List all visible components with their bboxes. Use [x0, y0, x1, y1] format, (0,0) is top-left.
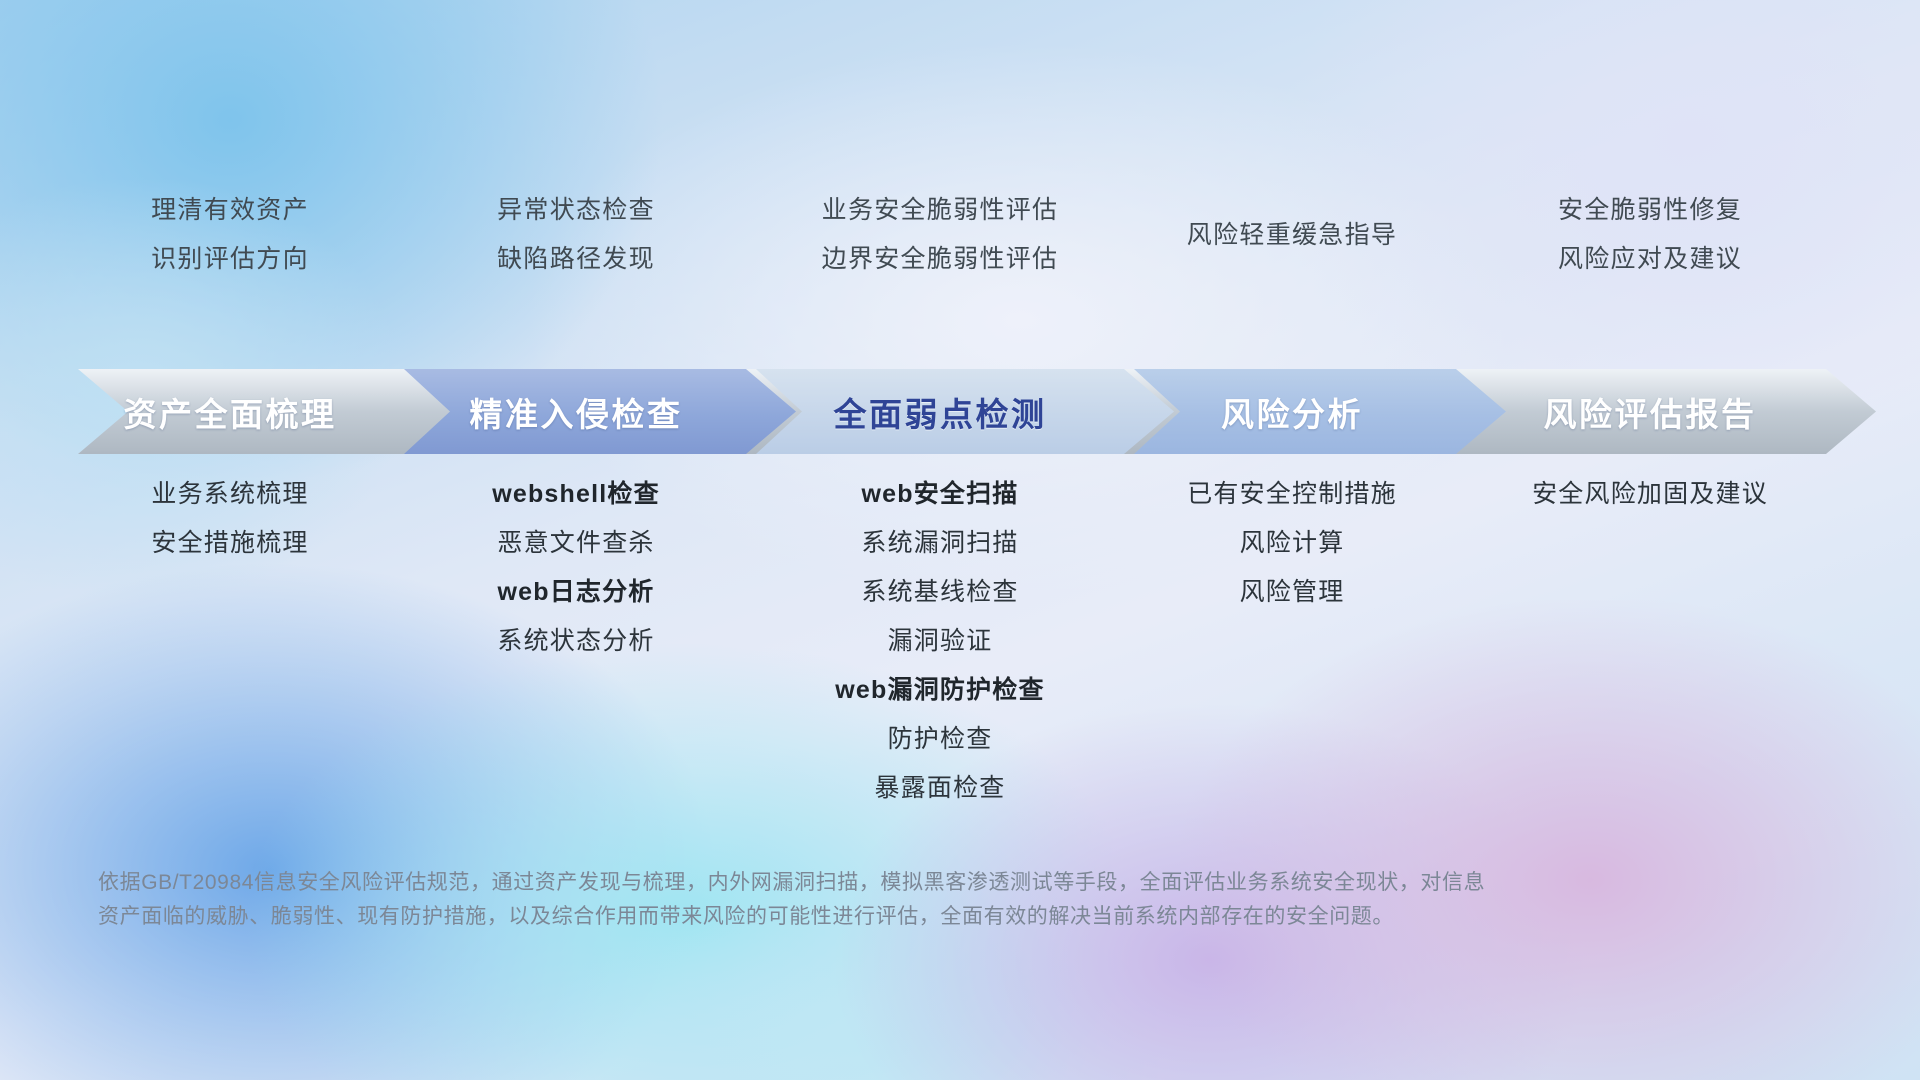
process-diagram: 理清有效资产识别评估方向异常状态检查缺陷路径发现业务安全脆弱性评估边界安全脆弱性… — [0, 0, 1920, 1080]
footer-line-1: 依据GB/T20984信息安全风险评估规范，通过资产发现与梳理，内外网漏洞扫描，… — [98, 866, 1658, 900]
detail-list-item: 业务系统梳理 — [50, 470, 410, 519]
stage-chevron-assessment-report[interactable]: 风险评估报告 — [1466, 369, 1872, 454]
detail-list-item: 暴露面检查 — [730, 764, 1150, 813]
top-notes-risk-analysis: 风险轻重缓急指导 — [1102, 211, 1482, 260]
detail-list-item: web漏洞防护检查 — [730, 666, 1150, 715]
stage-label-risk-analysis: 风险分析 — [1092, 388, 1492, 436]
detail-list-item: 安全措施梳理 — [50, 519, 410, 568]
stage-label-asset-sorting: 资产全面梳理 — [30, 388, 430, 436]
stage-label-assessment-report: 风险评估报告 — [1450, 388, 1850, 436]
top-note-line: 理清有效资产 — [50, 186, 410, 235]
detail-list-item: 系统状态分析 — [386, 617, 766, 666]
top-note-line: 风险应对及建议 — [1440, 235, 1860, 284]
detail-list-item: webshell检查 — [386, 470, 766, 519]
detail-list-item: 系统漏洞扫描 — [730, 519, 1150, 568]
top-note-line: 识别评估方向 — [50, 235, 410, 284]
detail-list-item: 风险计算 — [1102, 519, 1482, 568]
footer-line-2: 资产面临的威胁、脆弱性、现有防护措施，以及综合作用而带来风险的可能性进行评估，全… — [98, 900, 1658, 934]
detail-list-item: 恶意文件查杀 — [386, 519, 766, 568]
detail-list-item: 已有安全控制措施 — [1102, 470, 1482, 519]
top-notes-intrusion-check: 异常状态检查缺陷路径发现 — [386, 186, 766, 284]
detail-list-item: web安全扫描 — [730, 470, 1150, 519]
top-notes-weakness-detection: 业务安全脆弱性评估边界安全脆弱性评估 — [730, 186, 1150, 284]
top-note-line: 异常状态检查 — [386, 186, 766, 235]
detail-list-item: 漏洞验证 — [730, 617, 1150, 666]
detail-list-intrusion-check: webshell检查恶意文件查杀web日志分析系统状态分析 — [386, 470, 766, 666]
detail-list-item: 防护检查 — [730, 715, 1150, 764]
footer-description: 依据GB/T20984信息安全风险评估规范，通过资产发现与梳理，内外网漏洞扫描，… — [98, 866, 1658, 934]
detail-list-item: 风险管理 — [1102, 568, 1482, 617]
top-note-line: 风险轻重缓急指导 — [1102, 211, 1482, 260]
detail-list-asset-sorting: 业务系统梳理安全措施梳理 — [50, 470, 410, 568]
top-note-line: 缺陷路径发现 — [386, 235, 766, 284]
top-note-line: 业务安全脆弱性评估 — [730, 186, 1150, 235]
top-note-line: 安全脆弱性修复 — [1440, 186, 1860, 235]
detail-list-assessment-report: 安全风险加固及建议 — [1440, 470, 1860, 519]
detail-list-item: web日志分析 — [386, 568, 766, 617]
stage-label-weakness-detection: 全面弱点检测 — [740, 388, 1140, 436]
top-notes-row: 理清有效资产识别评估方向异常状态检查缺陷路径发现业务安全脆弱性评估边界安全脆弱性… — [0, 186, 1920, 290]
detail-list-item: 系统基线检查 — [730, 568, 1150, 617]
detail-list-weakness-detection: web安全扫描系统漏洞扫描系统基线检查漏洞验证web漏洞防护检查防护检查暴露面检… — [730, 470, 1150, 813]
stage-chevron-band: 资产全面梳理精准入侵检查全面弱点检测风险分析风险评估报告 — [0, 369, 1920, 454]
top-notes-asset-sorting: 理清有效资产识别评估方向 — [50, 186, 410, 284]
stage-label-intrusion-check: 精准入侵检查 — [376, 388, 776, 436]
top-note-line: 边界安全脆弱性评估 — [730, 235, 1150, 284]
detail-list-risk-analysis: 已有安全控制措施风险计算风险管理 — [1102, 470, 1482, 617]
top-notes-assessment-report: 安全脆弱性修复风险应对及建议 — [1440, 186, 1860, 284]
stage-chevron-intrusion-check[interactable]: 精准入侵检查 — [404, 369, 798, 454]
detail-list-item: 安全风险加固及建议 — [1440, 470, 1860, 519]
